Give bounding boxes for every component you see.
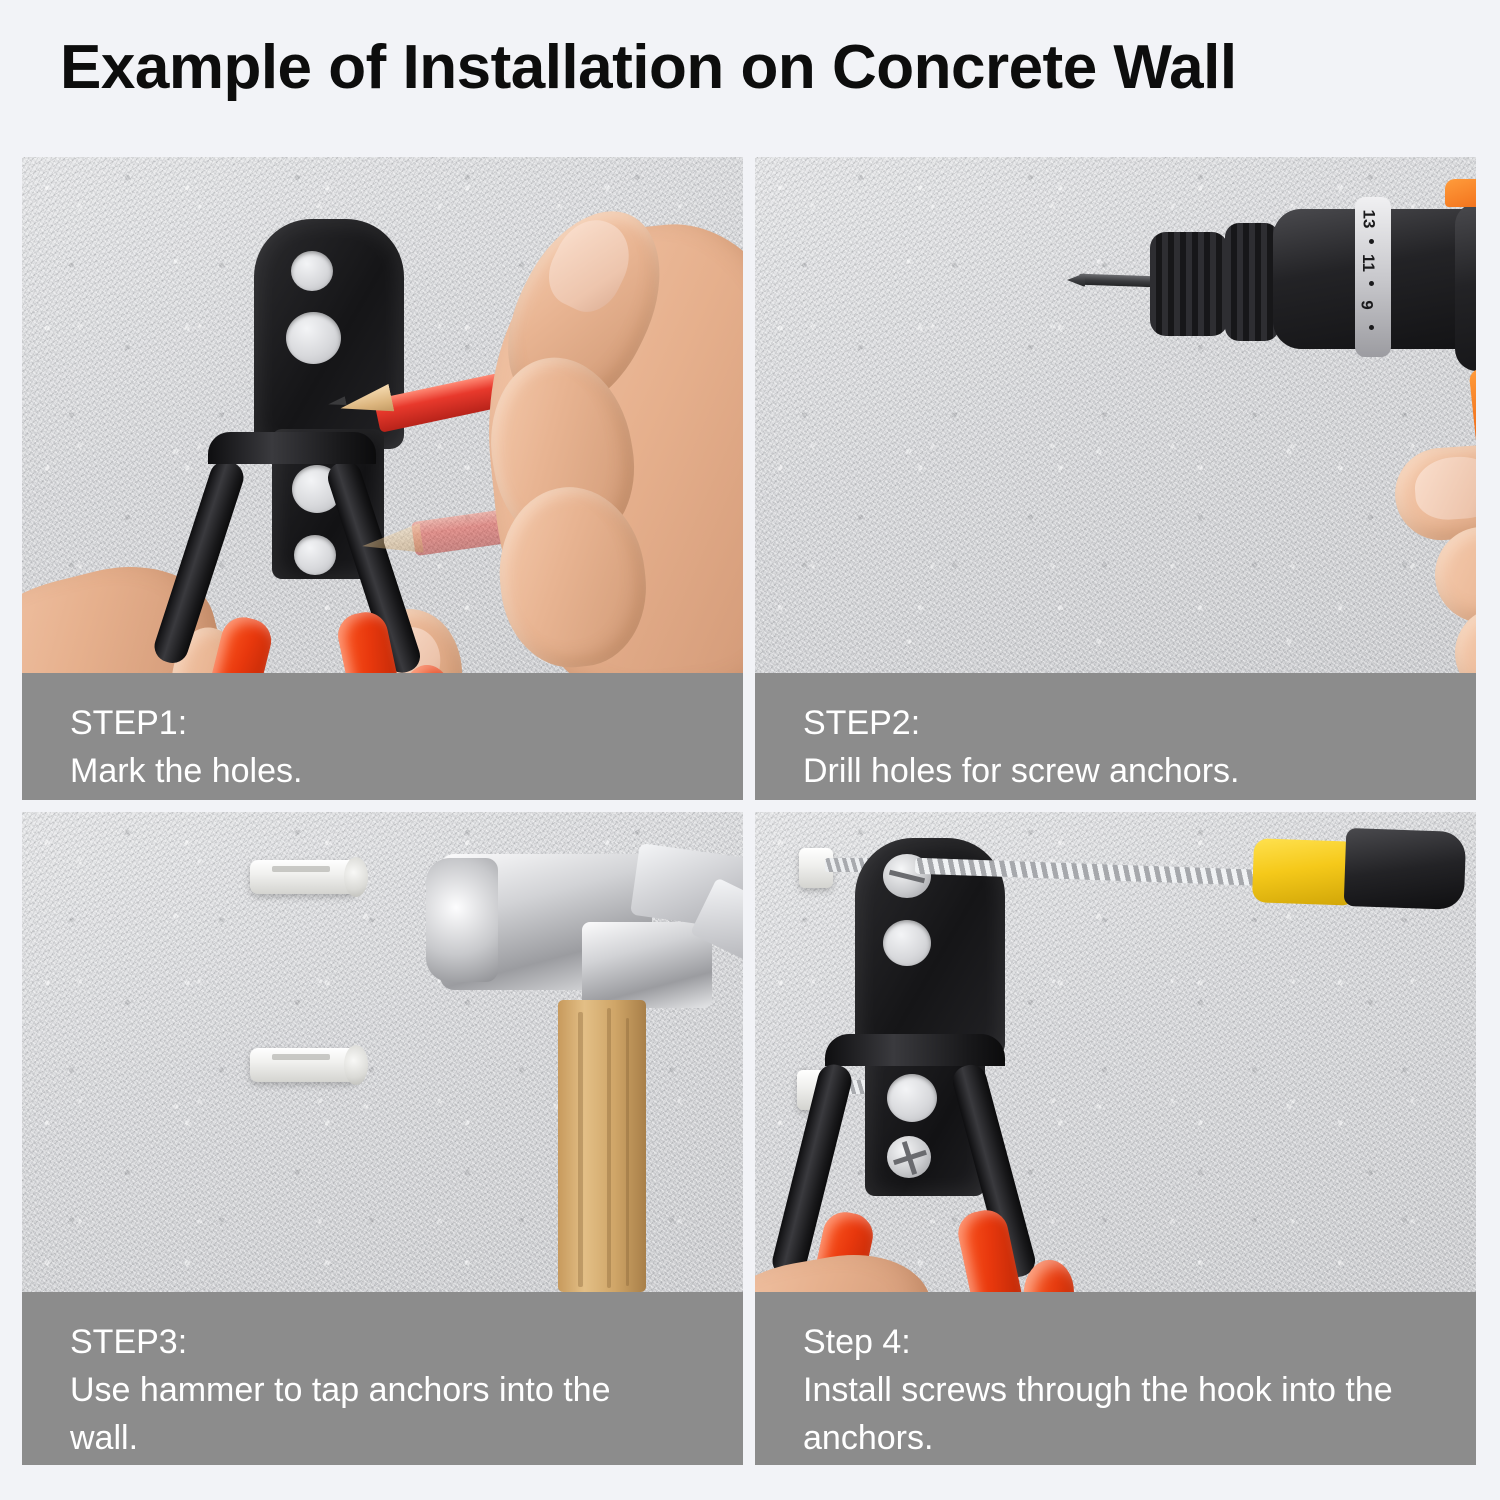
hook-bridge (208, 432, 376, 464)
page-title: Example of Installation on Concrete Wall (60, 32, 1237, 103)
hammer-handle-grain-2 (607, 1008, 611, 1288)
mounting-hole-2 (286, 312, 341, 364)
step1-illustration (22, 157, 743, 673)
collar-number-9: 9 (1357, 300, 1377, 309)
step2-photo: 13 11 9 (755, 157, 1476, 673)
drill-rear-body (1455, 203, 1476, 371)
step-panel-4: Step 4: Install screws through the hook … (755, 812, 1476, 1465)
step2-text: Drill holes for screw anchors. (803, 747, 1418, 795)
mounting-hole-upper (883, 920, 931, 966)
hammer-handle (558, 1000, 646, 1292)
drill-bit-tip (1067, 273, 1085, 287)
hammer-handle-grain-3 (626, 1018, 629, 1286)
step1-caption: STEP1: Mark the holes. (22, 673, 743, 800)
step-panel-2: 13 11 9 (755, 157, 1476, 800)
step1-photo (22, 157, 743, 673)
collar-dot-1 (1369, 239, 1374, 244)
step3-text: Use hammer to tap anchors into the wall. (70, 1366, 685, 1462)
anchor-1-mouth (344, 857, 368, 897)
step4-photo (755, 812, 1476, 1292)
step2-caption: STEP2: Drill holes for screw anchors. (755, 673, 1476, 800)
collar-dot-2 (1369, 281, 1374, 286)
collar-number-13: 13 (1358, 210, 1378, 229)
mounting-hole-4 (294, 535, 336, 575)
step4-text: Install screws through the hook into the… (803, 1366, 1418, 1462)
screwdriver-handle-yellow (1252, 838, 1358, 906)
step1-text: Mark the holes. (70, 747, 685, 795)
drill-chuck (1150, 232, 1228, 336)
step4-illustration (755, 812, 1476, 1292)
anchor-2-mouth (344, 1045, 368, 1085)
drill-trigger (1469, 365, 1476, 458)
step-panel-3: STEP3: Use hammer to tap anchors into th… (22, 812, 743, 1465)
hook-bridge (825, 1034, 1005, 1066)
anchor-1-rib (272, 866, 330, 872)
step-panel-1: STEP1: Mark the holes. (22, 157, 743, 800)
hammer-striking-face (426, 858, 498, 982)
drill-top-orange-accent (1445, 179, 1476, 207)
mounting-hole-lower (887, 1074, 937, 1122)
step3-photo (22, 812, 743, 1292)
step3-caption: STEP3: Use hammer to tap anchors into th… (22, 1292, 743, 1465)
mounting-hole-1 (291, 251, 333, 291)
step4-label: Step 4: (803, 1318, 1476, 1366)
step3-label: STEP3: (70, 1318, 743, 1366)
collar-dot-3 (1369, 325, 1374, 330)
drill-chuck-ring (1225, 223, 1279, 341)
step2-illustration: 13 11 9 (755, 157, 1476, 673)
collar-number-11: 11 (1358, 254, 1378, 272)
screwdriver-handle-black (1344, 828, 1467, 910)
step1-label: STEP1: (70, 699, 743, 747)
step4-caption: Step 4: Install screws through the hook … (755, 1292, 1476, 1465)
hammer-handle-grain-1 (578, 1012, 583, 1287)
steps-grid: STEP1: Mark the holes. 13 11 (22, 157, 1478, 1465)
hammer-neck (582, 922, 712, 1008)
step2-label: STEP2: (803, 699, 1476, 747)
step3-illustration (22, 812, 743, 1292)
anchor-2-rib (272, 1054, 330, 1060)
drill-bit (1079, 274, 1157, 288)
